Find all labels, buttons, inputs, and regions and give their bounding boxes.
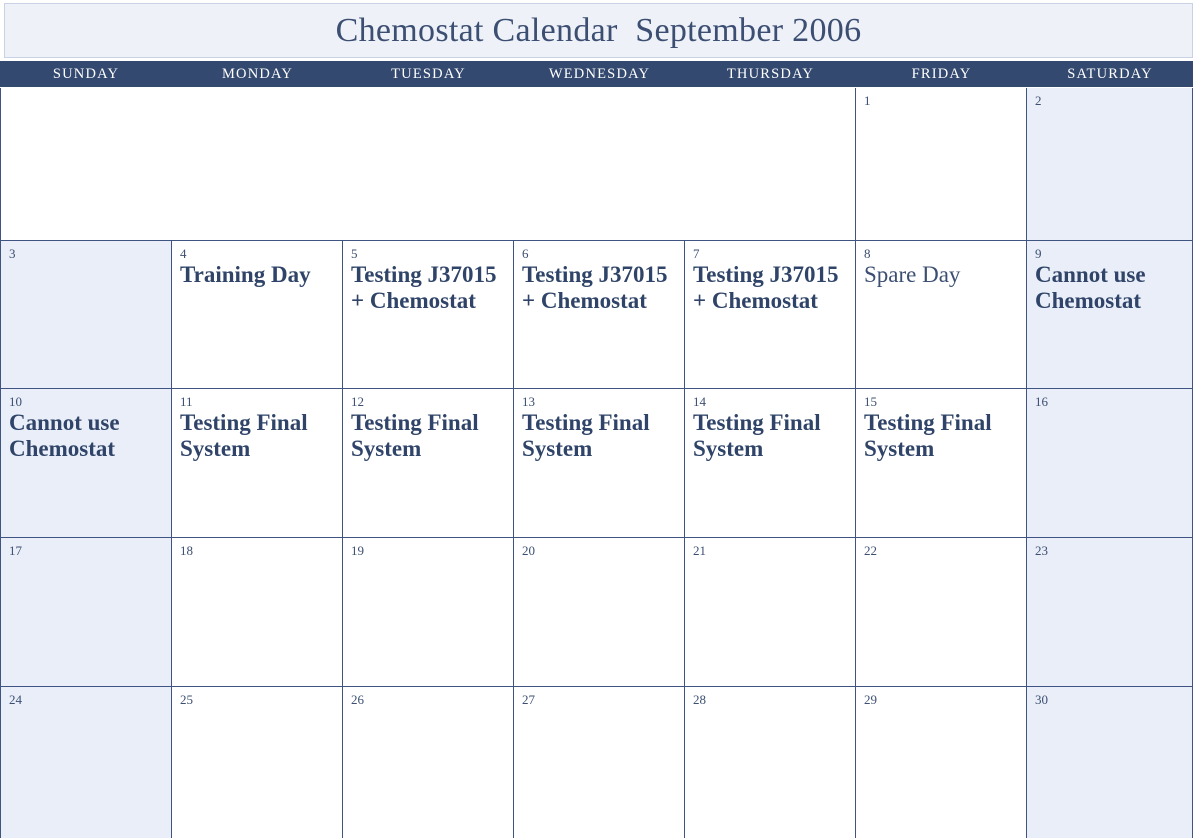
day-event-text[interactable]: Testing Final System [351,410,505,462]
day-cell[interactable]: 21 [685,538,856,686]
weekday-header-saturday: SATURDAY [1027,61,1193,87]
date-number: 1 [864,94,1018,108]
day-cell[interactable]: 6Testing J37015 + Chemostat [514,241,685,388]
date-number: 14 [693,395,847,409]
date-number: 5 [351,247,505,261]
date-number: 20 [522,544,676,558]
week-row: 10Cannot use Chemostat11Testing Final Sy… [0,389,1193,538]
date-number: 26 [351,693,505,707]
day-cell-empty [0,88,856,240]
day-event-text[interactable]: Cannot use Chemostat [1035,262,1184,314]
day-cell[interactable]: 5Testing J37015 + Chemostat [343,241,514,388]
date-number: 2 [1035,94,1184,108]
week-row: 34Training Day5Testing J37015 + Chemosta… [0,241,1193,389]
day-cell[interactable]: 10Cannot use Chemostat [0,389,172,537]
day-cell[interactable]: 9Cannot use Chemostat [1027,241,1193,388]
date-number: 18 [180,544,334,558]
weekday-header-sunday: SUNDAY [0,61,172,87]
date-number: 23 [1035,544,1184,558]
date-number: 4 [180,247,334,261]
day-cell[interactable]: 25 [172,687,343,838]
day-event-text[interactable]: Testing Final System [693,410,847,462]
day-cell[interactable]: 20 [514,538,685,686]
day-cell[interactable]: 17 [0,538,172,686]
day-cell[interactable]: 23 [1027,538,1193,686]
day-event-text[interactable]: Testing J37015 + Chemostat [693,262,847,314]
date-number: 21 [693,544,847,558]
day-event-text[interactable]: Testing Final System [180,410,334,462]
date-number: 13 [522,395,676,409]
date-number: 22 [864,544,1018,558]
date-number: 15 [864,395,1018,409]
weekday-header-thursday: THURSDAY [685,61,856,87]
calendar-title-bar: Chemostat Calendar September 2006 [4,3,1193,58]
date-number: 12 [351,395,505,409]
day-event-text[interactable]: Spare Day [864,262,1018,288]
day-cell[interactable]: 3 [0,241,172,388]
date-number: 30 [1035,693,1184,707]
day-event-text[interactable]: Testing J37015 + Chemostat [351,262,505,314]
day-cell[interactable]: 22 [856,538,1027,686]
date-number: 3 [9,247,163,261]
day-cell[interactable]: 1 [856,88,1027,240]
week-row: 24252627282930 [0,687,1193,838]
day-cell[interactable]: 15Testing Final System [856,389,1027,537]
calendar-page: Chemostat Calendar September 2006 SUNDAY… [0,0,1200,837]
day-event-text[interactable]: Testing Final System [522,410,676,462]
date-number: 7 [693,247,847,261]
day-cell[interactable]: 13Testing Final System [514,389,685,537]
day-cell[interactable]: 26 [343,687,514,838]
weekday-header-monday: MONDAY [172,61,343,87]
weekday-header-tuesday: TUESDAY [343,61,514,87]
month-grid: 1234Training Day5Testing J37015 + Chemos… [0,87,1193,838]
weekday-header-wednesday: WEDNESDAY [514,61,685,87]
date-number: 28 [693,693,847,707]
day-cell[interactable]: 27 [514,687,685,838]
day-cell[interactable]: 28 [685,687,856,838]
date-number: 10 [9,395,163,409]
day-cell[interactable]: 11Testing Final System [172,389,343,537]
day-event-text[interactable]: Training Day [180,262,334,288]
date-number: 25 [180,693,334,707]
week-row: 17181920212223 [0,538,1193,687]
day-cell[interactable]: 8Spare Day [856,241,1027,388]
day-cell[interactable]: 14Testing Final System [685,389,856,537]
date-number: 17 [9,544,163,558]
day-event-text[interactable]: Cannot use Chemostat [9,410,163,462]
weekday-header-bar: SUNDAY MONDAY TUESDAY WEDNESDAY THURSDAY… [0,61,1193,87]
date-number: 9 [1035,247,1184,261]
day-event-text[interactable]: Testing Final System [864,410,1018,462]
date-number: 11 [180,395,334,409]
date-number: 29 [864,693,1018,707]
day-cell[interactable]: 18 [172,538,343,686]
page-title: Chemostat Calendar September 2006 [336,14,862,48]
date-number: 16 [1035,395,1184,409]
day-cell[interactable]: 2 [1027,88,1193,240]
day-cell[interactable]: 12Testing Final System [343,389,514,537]
day-cell[interactable]: 19 [343,538,514,686]
day-cell[interactable]: 24 [0,687,172,838]
day-event-text[interactable]: Testing J37015 + Chemostat [522,262,676,314]
date-number: 8 [864,247,1018,261]
weekday-header-friday: FRIDAY [856,61,1027,87]
day-cell[interactable]: 7Testing J37015 + Chemostat [685,241,856,388]
day-cell[interactable]: 30 [1027,687,1193,838]
week-row: 12 [0,88,1193,241]
day-cell[interactable]: 29 [856,687,1027,838]
date-number: 24 [9,693,163,707]
day-cell[interactable]: 4Training Day [172,241,343,388]
date-number: 6 [522,247,676,261]
date-number: 27 [522,693,676,707]
day-cell[interactable]: 16 [1027,389,1193,537]
date-number: 19 [351,544,505,558]
